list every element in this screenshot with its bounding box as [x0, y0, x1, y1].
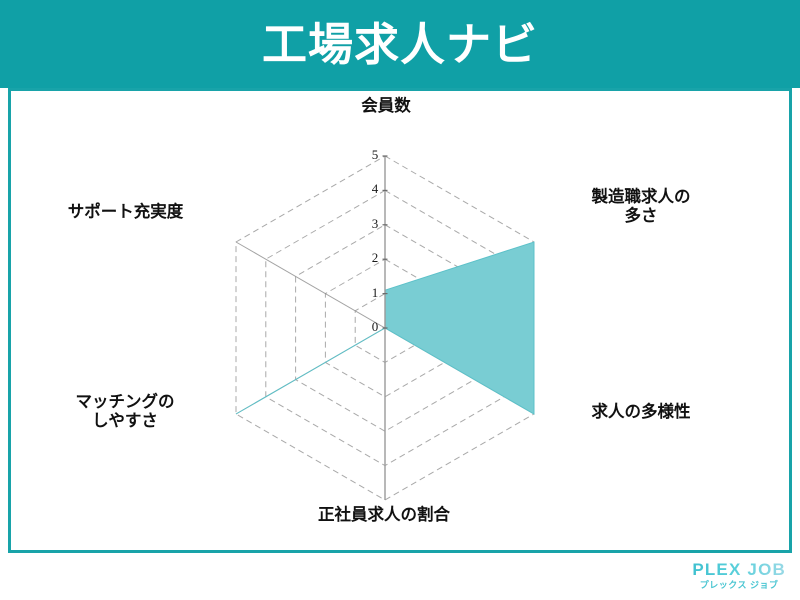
radar-axis-label-line: 求人の多様性: [556, 403, 726, 422]
brand-logo-sub: プレックス ジョブ: [692, 581, 786, 590]
radar-axis-label-support: サポート充実度: [28, 203, 223, 222]
radar-axis-label-line: 製造職求人の: [556, 188, 726, 207]
header-band: 工場求人ナビ: [0, 0, 800, 88]
radar-tick-label-2: 2: [365, 250, 385, 266]
radar-axis-label-manufacturing-jobs: 製造職求人の多さ: [556, 188, 726, 227]
radar-tick-label-3: 3: [365, 216, 385, 232]
radar-axis-label-line: サポート充実度: [28, 203, 223, 222]
radar-chart-svg: [8, 88, 792, 553]
brand-logo-main: PLEX JOB: [692, 561, 786, 578]
radar-tick-label-1: 1: [365, 285, 385, 301]
radar-axis-label-job-variety: 求人の多様性: [556, 403, 726, 422]
radar-axis-label-fulltime-ratio: 正社員求人の割合: [214, 506, 554, 525]
radar-axis-label-line: マッチングの: [30, 393, 220, 412]
radar-axis-label-member-count: 会員数: [301, 97, 471, 116]
radar-chart: 5 4 3 2 1 0 会員数 製造職求人の多さ 求人の多様性 正社員求人の割合…: [8, 88, 792, 553]
brand-logo: PLEX JOB プレックス ジョブ: [692, 561, 786, 590]
radar-axis-label-line: 会員数: [301, 97, 471, 116]
radar-axis-label-line: 正社員求人の割合: [214, 506, 554, 525]
radar-tick-label-5: 5: [365, 147, 385, 163]
radar-tick-label-4: 4: [365, 181, 385, 197]
radar-axis-label-matching-ease: マッチングのしやすさ: [30, 393, 220, 432]
page-title: 工場求人ナビ: [262, 22, 538, 67]
footer-area: PLEX JOB プレックス ジョブ: [0, 553, 800, 600]
radar-tick-label-0: 0: [365, 319, 385, 335]
radar-axis-label-line: しやすさ: [30, 412, 220, 431]
radar-axis-label-line: 多さ: [556, 207, 726, 226]
